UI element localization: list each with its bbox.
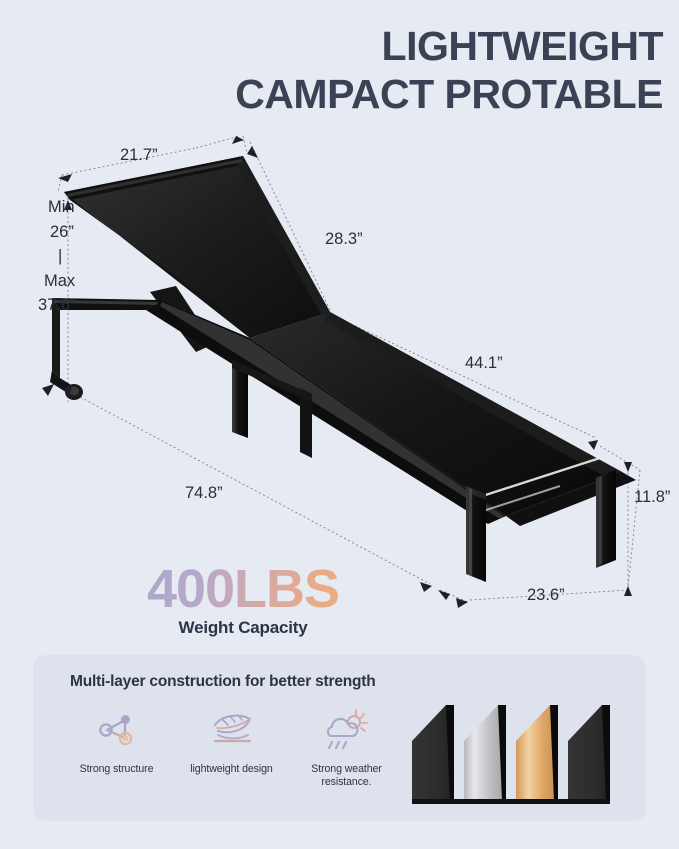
share-nodes-icon [59,703,174,757]
multi-layer-panels [406,691,628,809]
feature-weather-resistance: Strong weather resistance. [289,703,404,789]
headline-line-1: LIGHTWEIGHT [382,23,663,69]
feature-label: Strong weather resistance. [289,763,404,789]
multi-layer-feature-card: Multi-layer construction for better stre… [33,655,646,821]
dim-seat-length: 44.1” [465,354,503,372]
svg-text:26”: 26” [50,223,74,241]
dim-seat-height: 11.8” [634,488,670,506]
weight-capacity-block: 400LBS Weight Capacity [128,562,358,638]
feature-list: Strong structure lightweight design [59,703,404,789]
weight-capacity-value: 400LBS [128,562,358,616]
dim-backrest-width: 21.7” [120,146,158,164]
feather-icon [174,703,289,757]
feature-label: lightweight design [174,763,289,776]
dim-overall-length: 74.8” [185,484,223,502]
headline-line-2: CAMPACT PROTABLE [235,70,663,118]
chaise-lounge-graphic [50,156,636,582]
feature-card-title: Multi-layer construction for better stre… [70,673,376,691]
svg-text:Min: Min [48,198,75,216]
dim-overall-width: 23.6” [527,586,565,604]
dim-backrest-height-range: Min 26” | Max 37.6” [38,198,76,314]
feature-label: Strong structure [59,763,174,776]
svg-text:37.6”: 37.6” [38,296,76,314]
weight-capacity-label: Weight Capacity [128,618,358,638]
cloud-sun-rain-icon [289,703,404,757]
svg-text:|: | [58,247,62,265]
svg-text:Max: Max [44,272,76,290]
feature-lightweight-design: lightweight design [174,703,289,789]
dim-backrest-length: 28.3” [325,230,363,248]
page-headline: LIGHTWEIGHT CAMPACT PROTABLE [235,22,663,119]
feature-strong-structure: Strong structure [59,703,174,789]
